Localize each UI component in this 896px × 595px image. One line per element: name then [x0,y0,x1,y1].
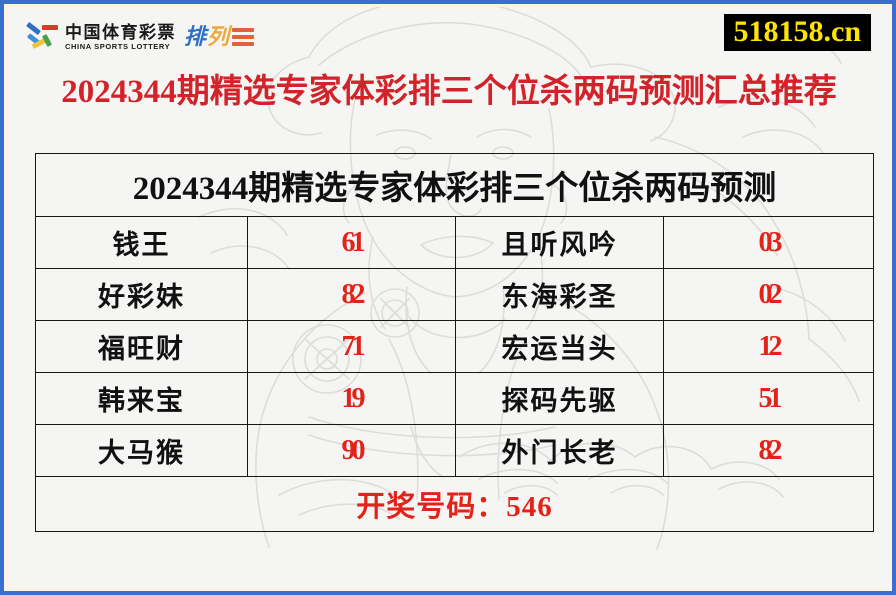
game-char-3-bars-icon [232,28,254,46]
prediction-table-container: 2024344期精选专家体彩排三个位杀两码预测 钱王 61 且听风吟 03 好彩… [35,153,873,532]
page-header: 中国体育彩票 CHINA SPORTS LOTTERY 排 列 518158.c… [9,7,889,119]
table-header-row: 2024344期精选专家体彩排三个位杀两码预测 [36,154,874,217]
game-char-1: 排 [184,26,206,48]
expert-name-left: 大马猴 [36,425,248,477]
kill-codes-left: 19 [248,373,456,425]
paper-surface: 中国体育彩票 CHINA SPORTS LOTTERY 排 列 518158.c… [9,7,889,590]
brand-name-en: CHINA SPORTS LOTTERY [65,43,176,51]
brand-name-cn: 中国体育彩票 [65,24,176,41]
kill-codes-right: 82 [664,425,874,477]
table-row: 好彩妹 82 东海彩圣 02 [36,269,874,321]
expert-name-left: 好彩妹 [36,269,248,321]
expert-name-left: 钱王 [36,217,248,269]
table-row: 福旺财 71 宏运当头 12 [36,321,874,373]
table-header-title: 2024344期精选专家体彩排三个位杀两码预测 [36,154,874,217]
expert-name-right: 且听风吟 [456,217,664,269]
game-char-2: 列 [207,26,229,48]
kill-codes-right: 51 [664,373,874,425]
expert-name-right: 宏运当头 [456,321,664,373]
expert-name-left: 福旺财 [36,321,248,373]
china-sports-lottery-emblem-icon [25,22,59,52]
expert-name-left: 韩来宝 [36,373,248,425]
site-watermark-badge: 518158.cn [724,14,872,51]
kill-codes-left: 71 [248,321,456,373]
page-title: 2024344期精选专家体彩排三个位杀两码预测汇总推荐 [9,64,889,112]
prediction-table: 2024344期精选专家体彩排三个位杀两码预测 钱王 61 且听风吟 03 好彩… [35,153,874,532]
expert-name-right: 探码先驱 [456,373,664,425]
kill-codes-left: 82 [248,269,456,321]
table-footer-row: 开奖号码：546 [36,477,874,532]
kill-codes-left: 90 [248,425,456,477]
table-row: 钱王 61 且听风吟 03 [36,217,874,269]
table-row: 大马猴 90 外门长老 82 [36,425,874,477]
kill-codes-right: 12 [664,321,874,373]
brand-logo: 中国体育彩票 CHINA SPORTS LOTTERY 排 列 [25,16,254,58]
table-row: 韩来宝 19 探码先驱 51 [36,373,874,425]
kill-codes-right: 03 [664,217,874,269]
page-root: 中国体育彩票 CHINA SPORTS LOTTERY 排 列 518158.c… [0,0,896,595]
expert-name-right: 东海彩圣 [456,269,664,321]
winning-number-text: 开奖号码：546 [36,477,874,532]
game-name-pailie-san: 排 列 [184,26,254,48]
brand-wordmark: 中国体育彩票 CHINA SPORTS LOTTERY [65,24,176,51]
kill-codes-right: 02 [664,269,874,321]
expert-name-right: 外门长老 [456,425,664,477]
kill-codes-left: 61 [248,217,456,269]
